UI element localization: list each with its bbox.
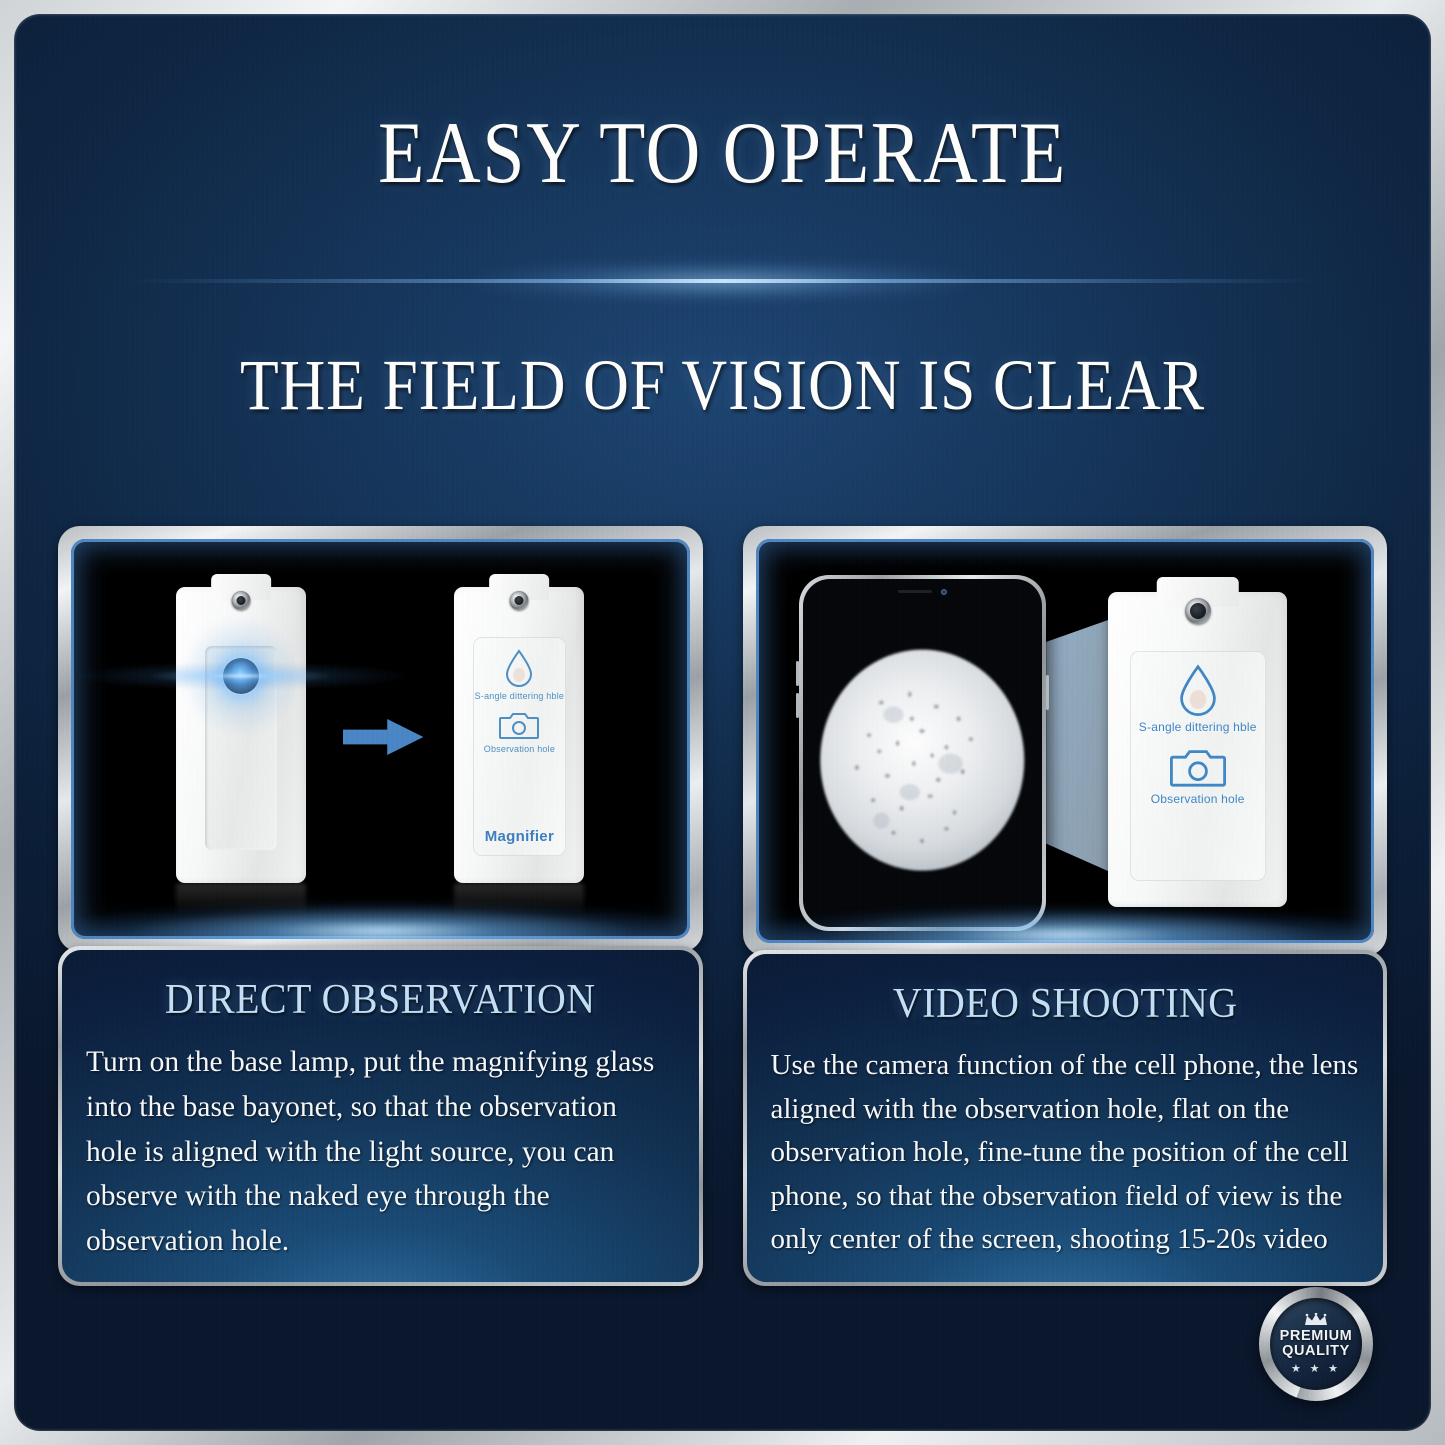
photo-frame-left: S-angle dittering hble Observation hole … [58, 526, 703, 952]
caption-panel-right: VIDEO SHOOTING Use the camera function o… [743, 950, 1388, 1286]
badge-inner: PREMIUM QUALITY ★ ★ ★ [1270, 1298, 1362, 1390]
device-label-sticker: S-angle dittering hble Observation hole [1130, 651, 1266, 881]
water-drop-icon [1177, 664, 1219, 716]
device-reflection-right [454, 883, 584, 915]
caption-inner-left: DIRECT OBSERVATION Turn on the base lamp… [62, 950, 699, 1282]
caption-title-video-shooting: VIDEO SHOOTING [785, 980, 1344, 1028]
base-lamp-device [176, 587, 306, 883]
badge-stars: ★ ★ ★ [1291, 1362, 1341, 1375]
phone-screen [803, 579, 1042, 927]
photo-stage-left: S-angle dittering hble Observation hole … [71, 539, 690, 939]
brand-text: Magnifier [485, 828, 554, 845]
device-screw-icon [510, 591, 529, 610]
device-label-sticker: S-angle dittering hble Observation hole … [473, 637, 567, 856]
photo-frame-right: S-angle dittering hble Observation hole [743, 526, 1388, 956]
badge-line-2: QUALITY [1282, 1344, 1350, 1359]
specimen-specks [821, 650, 1024, 866]
scene-two-devices: S-angle dittering hble Observation hole … [71, 539, 690, 939]
poster-canvas: EASY TO OPERATE THE FIELD OF VISION IS C… [14, 14, 1431, 1431]
label-camera-text: Observation hole [484, 744, 555, 754]
caption-body-direct-observation: Turn on the base lamp, put the magnifyin… [86, 1040, 675, 1264]
badge-line-1: PREMIUM [1280, 1329, 1353, 1344]
page-title: EASY TO OPERATE [113, 110, 1332, 198]
magnifier-device: S-angle dittering hble Observation hole [1108, 592, 1287, 907]
microscope-field-view [821, 650, 1024, 871]
earpiece-speaker-icon [898, 590, 932, 593]
premium-quality-badge: PREMIUM QUALITY ★ ★ ★ [1259, 1287, 1373, 1401]
device-screw-icon [232, 591, 251, 610]
caption-panel-left: DIRECT OBSERVATION Turn on the base lamp… [58, 946, 703, 1286]
device-screw-icon [1185, 598, 1211, 624]
phone-power-button [1046, 675, 1049, 711]
device-reflection-left [176, 883, 306, 915]
panel-video-shooting: S-angle dittering hble Observation hole [743, 526, 1388, 1286]
phone-notch [867, 584, 977, 599]
scene-phone-and-device: S-angle dittering hble Observation hole [756, 539, 1375, 943]
magnifier-device: S-angle dittering hble Observation hole … [454, 587, 584, 883]
phone-volume-button [796, 661, 799, 686]
panel-direct-observation: S-angle dittering hble Observation hole … [58, 526, 703, 1286]
glow-divider [133, 279, 1313, 283]
feature-columns: S-angle dittering hble Observation hole … [58, 526, 1387, 1286]
label-camera-text: Observation hole [1151, 792, 1245, 806]
water-drop-icon [504, 649, 534, 687]
front-camera-icon [941, 589, 947, 595]
label-drop-text: S-angle dittering hble [1139, 720, 1257, 734]
camera-icon [499, 710, 539, 740]
page-subtitle: THE FIELD OF VISION IS CLEAR [99, 349, 1346, 421]
lamp-led-icon [223, 658, 259, 694]
outer-metal-frame: EASY TO OPERATE THE FIELD OF VISION IS C… [0, 0, 1445, 1445]
caption-title-direct-observation: DIRECT OBSERVATION [101, 976, 660, 1024]
photo-stage-right: S-angle dittering hble Observation hole [756, 539, 1375, 943]
right-arrow-icon [343, 719, 423, 755]
camera-icon [1170, 746, 1226, 788]
phone-volume-button [796, 693, 799, 718]
caption-body-video-shooting: Use the camera function of the cell phon… [771, 1044, 1360, 1262]
label-drop-text: S-angle dittering hble [475, 691, 564, 701]
cell-phone [799, 575, 1046, 931]
caption-inner-right: VIDEO SHOOTING Use the camera function o… [747, 954, 1384, 1282]
crown-icon [1304, 1313, 1328, 1326]
